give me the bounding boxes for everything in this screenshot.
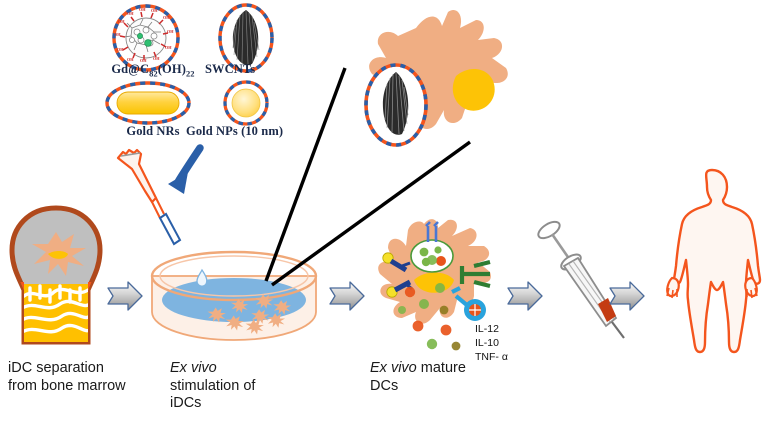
caption-mature-line2: DCs <box>370 378 550 396</box>
caption-bone-marrow-line2: from bone marrow <box>8 378 168 396</box>
caption-petri-line3: iDCs <box>170 395 320 413</box>
caption-bone-marrow: iDC separation from bone marrow <box>8 360 168 395</box>
flow-arrow-4 <box>610 282 644 310</box>
caption-petri-exvivo: Ex vivo <box>170 360 217 376</box>
caption-mature-exvivo: Ex vivo <box>370 360 417 376</box>
caption-petri-line2: stimulation of <box>170 378 320 396</box>
caption-petri-dish: Ex vivo stimulation of iDCs <box>170 360 320 413</box>
caption-mature-line1: Ex vivo mature <box>370 360 550 378</box>
caption-mature-rest: mature <box>417 360 466 376</box>
flow-arrow-2 <box>330 282 364 310</box>
caption-mature-dc: Ex vivo mature DCs <box>370 360 550 395</box>
flow-arrow-3 <box>508 282 542 310</box>
figure-canvas: OHOHOH OHOHOH OHOHOH OHOHOH <box>0 0 772 425</box>
flow-arrow-1 <box>108 282 142 310</box>
caption-bone-marrow-line1: iDC separation <box>8 360 168 378</box>
